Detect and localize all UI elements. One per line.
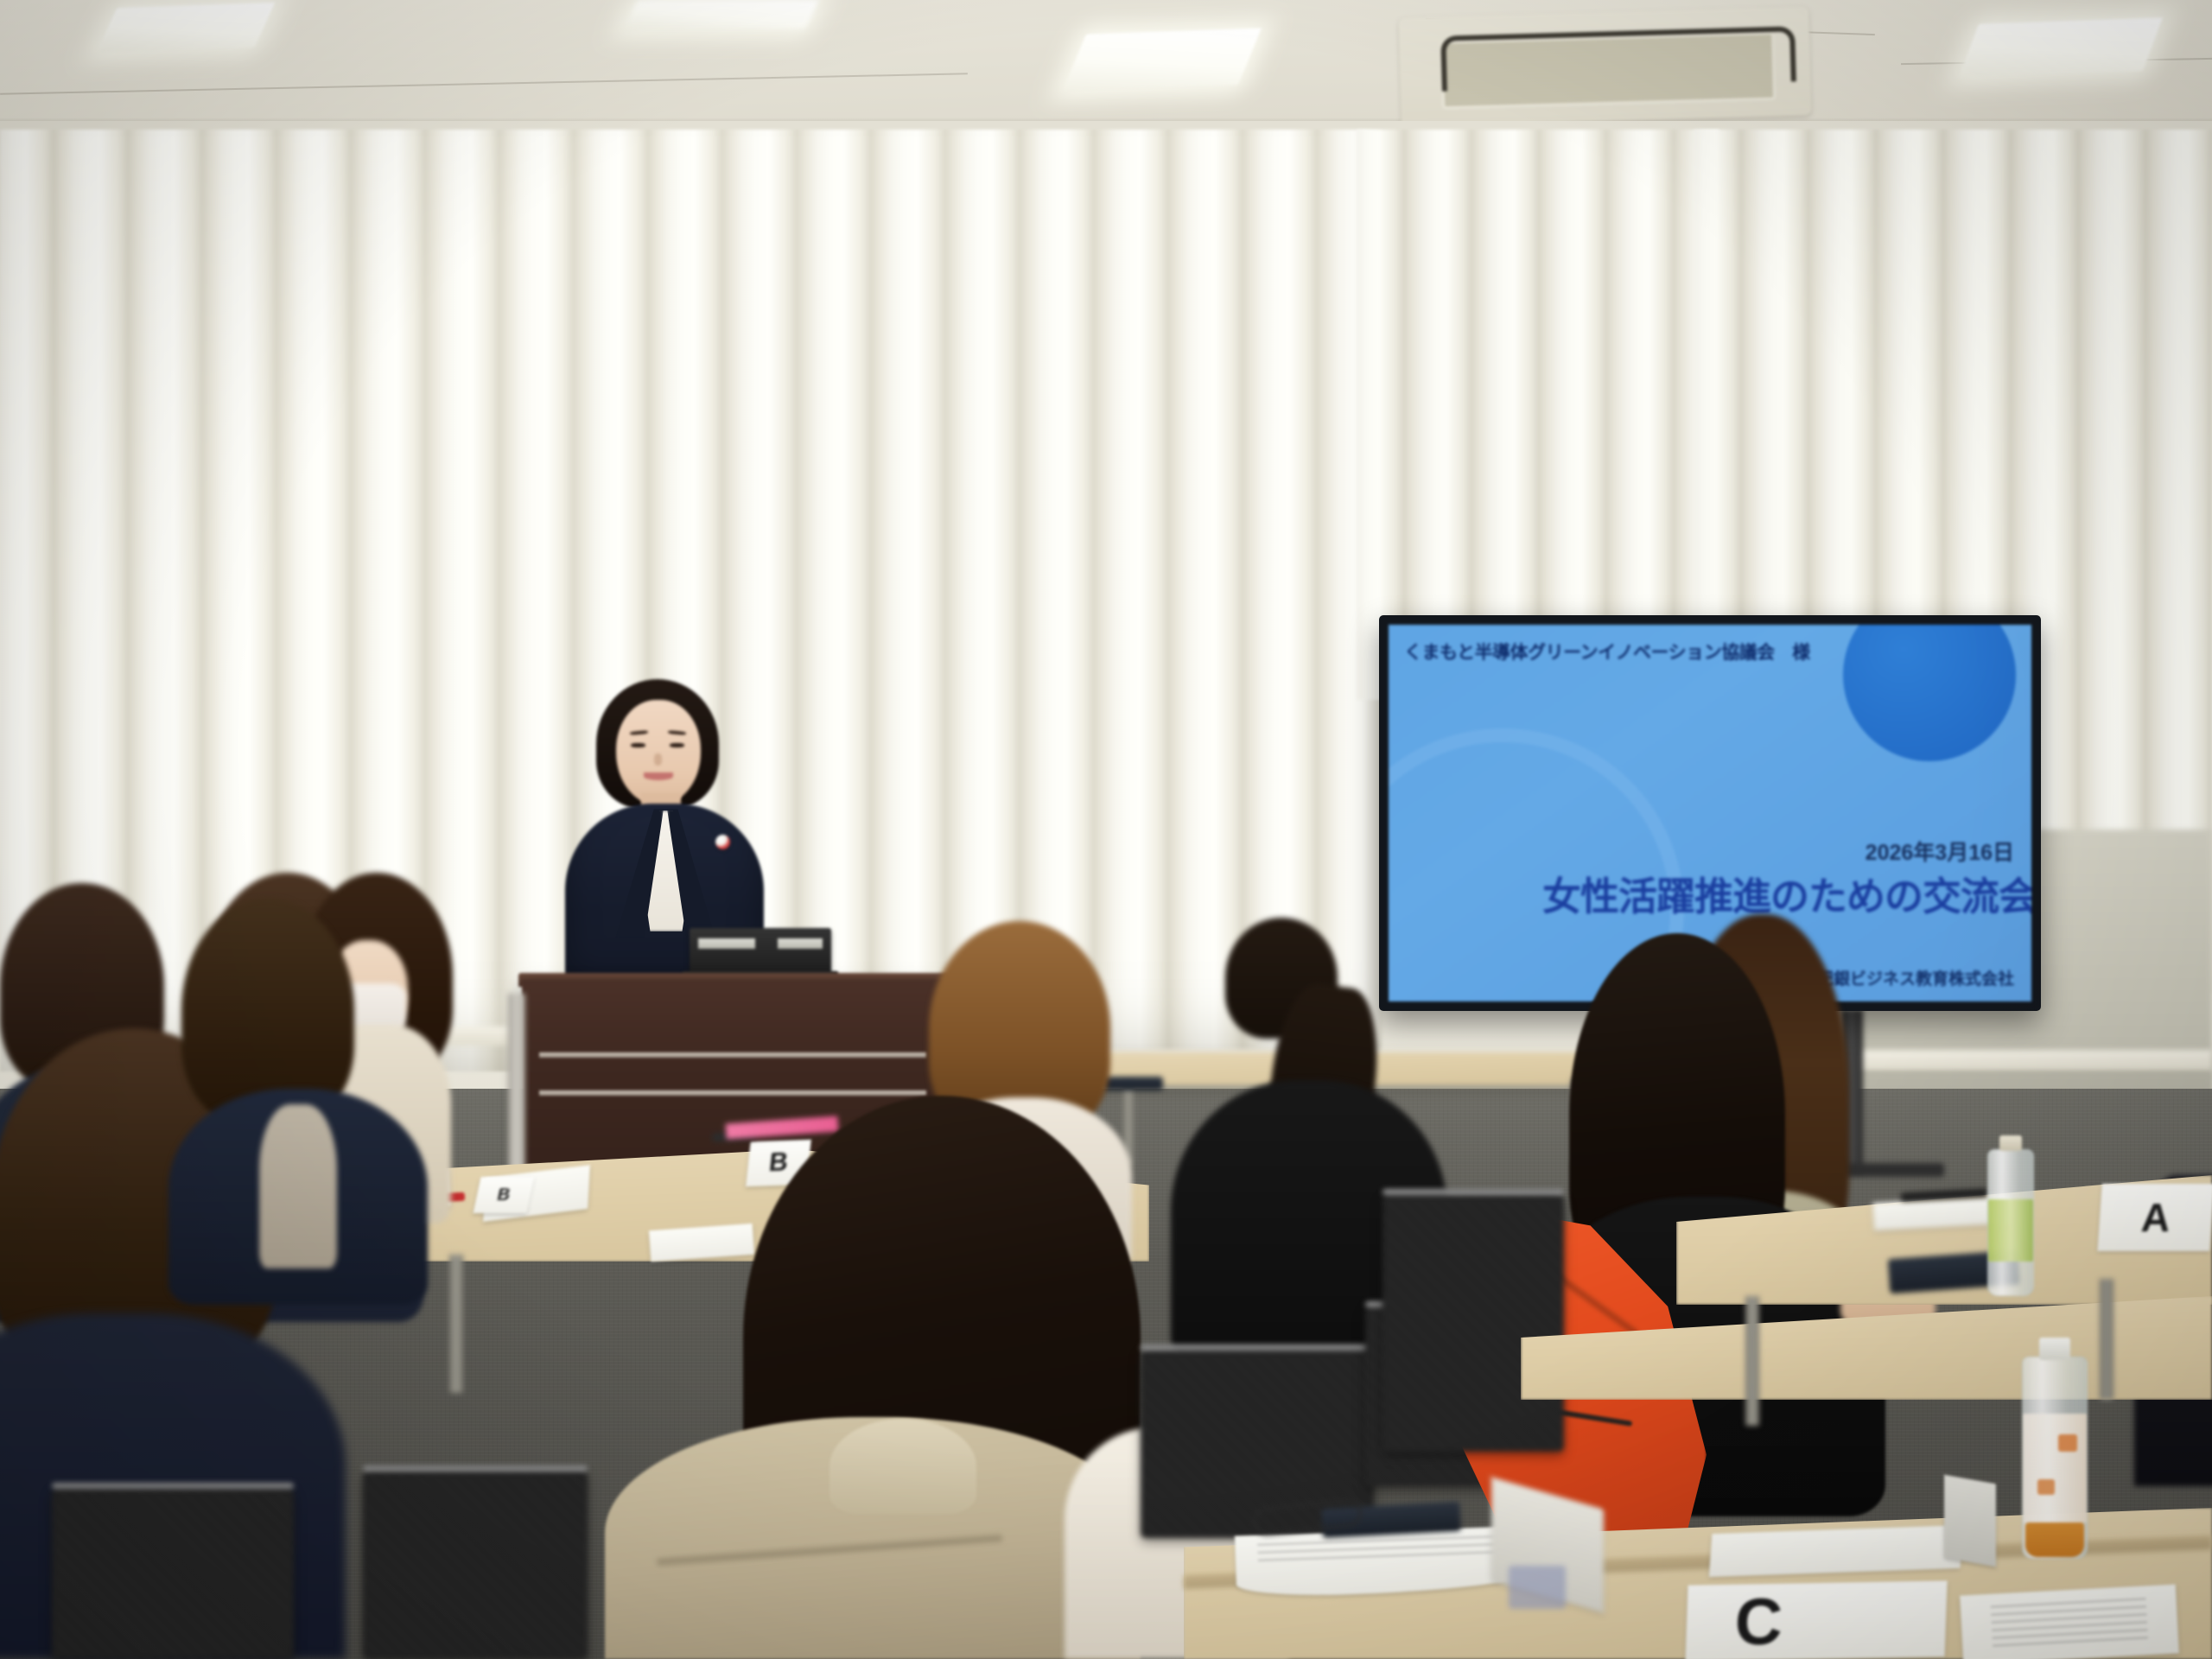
chair-rim — [1141, 1344, 1374, 1351]
chair-rim — [1382, 1189, 1564, 1195]
name-card-stand — [1944, 1475, 1996, 1567]
table-leg — [1745, 1296, 1759, 1426]
bottle-label — [1988, 1199, 2033, 1262]
handout-papers[interactable] — [1709, 1525, 1963, 1577]
slide-date: 2026年3月16日 — [1866, 836, 2014, 867]
speaker-lapel-pin — [715, 835, 730, 849]
table-card-letter: B — [495, 1185, 512, 1205]
tea-bottle[interactable] — [2022, 1357, 2088, 1559]
slide-filled-circle-decoration — [1843, 625, 2016, 761]
slide-footer-company: 肥銀ビジネス教育株式会社 — [1817, 966, 2014, 989]
speaker-mouth — [644, 772, 673, 780]
table-card-a: A — [2097, 1184, 2212, 1251]
chair[interactable] — [1382, 1192, 1564, 1452]
podium-side-post — [508, 994, 525, 1192]
table-leg — [449, 1255, 463, 1393]
table-card-c: C — [1685, 1580, 1947, 1659]
speaker-face — [616, 700, 701, 805]
ceiling-light-fixture — [624, 0, 818, 29]
chair[interactable] — [363, 1469, 588, 1659]
device-on-back-table — [1103, 1077, 1163, 1090]
table-card-letter: A — [2139, 1194, 2171, 1241]
table-card-letter: B — [767, 1148, 789, 1179]
label-accent — [2058, 1434, 2077, 1452]
label-accent — [2037, 1479, 2055, 1495]
ac-trim-bar — [1440, 26, 1796, 91]
bottle-cap — [1999, 1135, 2022, 1151]
ceiling-light-fixture — [1959, 17, 2163, 77]
card-holder-base — [1509, 1566, 1566, 1609]
bottle-cap — [2039, 1338, 2070, 1360]
chair-rim — [52, 1483, 294, 1489]
coat-collar — [829, 1419, 976, 1514]
chair-rim — [363, 1465, 588, 1471]
green-tea-bottle[interactable] — [1987, 1149, 2034, 1296]
chair[interactable] — [52, 1486, 294, 1659]
table-leg — [2100, 1279, 2113, 1400]
bottle-label — [2023, 1414, 2087, 1522]
table-card: B — [474, 1177, 535, 1213]
participant-inner-top — [259, 1104, 337, 1268]
slide-client-name: くまもと半導体グリーンイノベーション協議会 様 — [1404, 639, 1810, 664]
ceiling-light-fixture — [1063, 29, 1262, 92]
speaker-nose — [654, 753, 662, 766]
bottle-liquid — [2025, 1522, 2084, 1557]
slide-title: 女性活躍推進のための交流会 — [1542, 865, 2031, 921]
podium-laptop[interactable] — [690, 928, 831, 975]
conference-room-photo: くまもと半導体グリーンイノベーション協議会 様 2026年3月16日 女性活躍推… — [0, 0, 2212, 1659]
handout-papers[interactable] — [1960, 1585, 2179, 1659]
ceiling-light-fixture — [97, 3, 275, 53]
table-card-letter: C — [1733, 1584, 1783, 1659]
vertical-blinds-center — [1357, 130, 1719, 700]
